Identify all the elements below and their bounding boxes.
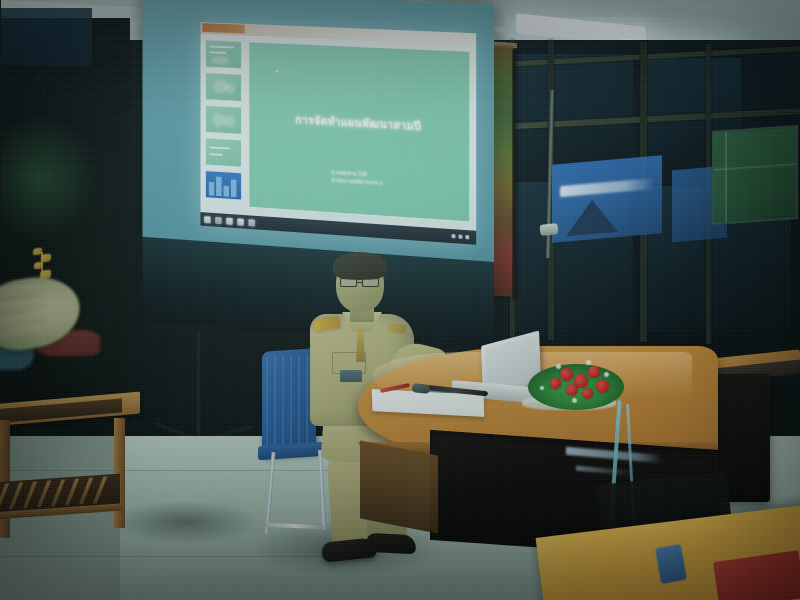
slide-bullet-dot <box>275 70 278 73</box>
network-icon[interactable] <box>452 234 456 238</box>
screen-reflection-shape <box>566 198 618 237</box>
rose <box>596 380 609 393</box>
active-slide[interactable]: การจัดทำแผนพัฒนาสามปี นายสมชาย ใจดี สำนั… <box>248 41 470 222</box>
name-badge <box>340 370 362 382</box>
photo-scene: การจัดทำแผนพัฒนาสามปี นายสมชาย ใจดี สำนั… <box>0 0 800 600</box>
filler-flower <box>586 360 591 365</box>
slide-thumbnail[interactable] <box>205 105 242 135</box>
browser-icon[interactable] <box>226 217 232 224</box>
glasses <box>340 278 382 287</box>
slide-subtitle: นายสมชาย ใจดี สำนักงานปลัดกระทรวง <box>331 169 460 193</box>
filler-flower <box>604 372 609 377</box>
slide-title: การจัดทำแผนพัฒนาสามปี <box>262 109 456 137</box>
slide-thumbnail-rail[interactable] <box>205 40 242 212</box>
left-green-glow <box>0 118 96 238</box>
presentation-body: การจัดทำแผนพัฒนาสามปี นายสมชาย ใจดี สำนั… <box>201 34 477 231</box>
rose <box>582 388 593 399</box>
explorer-icon[interactable] <box>215 216 221 223</box>
glasses-lens <box>362 278 379 287</box>
desk-side-panel <box>360 440 438 533</box>
presenter-hair <box>333 252 387 280</box>
rose <box>550 378 561 389</box>
rose <box>566 384 578 396</box>
side-table-leg <box>0 420 10 538</box>
slide-thumbnail[interactable] <box>205 137 242 167</box>
start-icon[interactable] <box>204 216 210 223</box>
slide-thumbnail[interactable] <box>205 72 242 102</box>
slide-thumbnail-chart[interactable] <box>205 170 242 200</box>
desk-sign-line2 <box>576 466 634 476</box>
glass-pane <box>513 54 633 174</box>
slide-thumbnail[interactable] <box>205 40 242 70</box>
glasses-lens <box>340 278 357 287</box>
left-wall-panel <box>0 8 92 66</box>
presentation-icon[interactable] <box>237 218 243 225</box>
filler-flower <box>540 386 544 390</box>
table-floor-shadow <box>110 500 260 544</box>
floor-shadow-left <box>0 436 120 600</box>
banner-shadow <box>512 50 522 301</box>
volume-icon[interactable] <box>458 235 462 239</box>
battery-icon[interactable] <box>465 235 469 239</box>
wall-speaker <box>539 223 558 236</box>
rose <box>588 366 600 378</box>
desk-microphone-head <box>412 383 431 394</box>
system-tray[interactable] <box>452 234 473 239</box>
projected-desktop: การจัดทำแผนพัฒนาสามปี นายสมชาย ใจดี สำนั… <box>201 22 477 245</box>
green-board <box>712 125 798 225</box>
media-icon[interactable] <box>248 219 254 226</box>
filler-flower <box>556 364 561 369</box>
app-ribbon-accent <box>202 23 244 33</box>
rose <box>560 368 573 381</box>
presenter-shoe <box>366 533 417 555</box>
filler-flower <box>572 398 577 403</box>
